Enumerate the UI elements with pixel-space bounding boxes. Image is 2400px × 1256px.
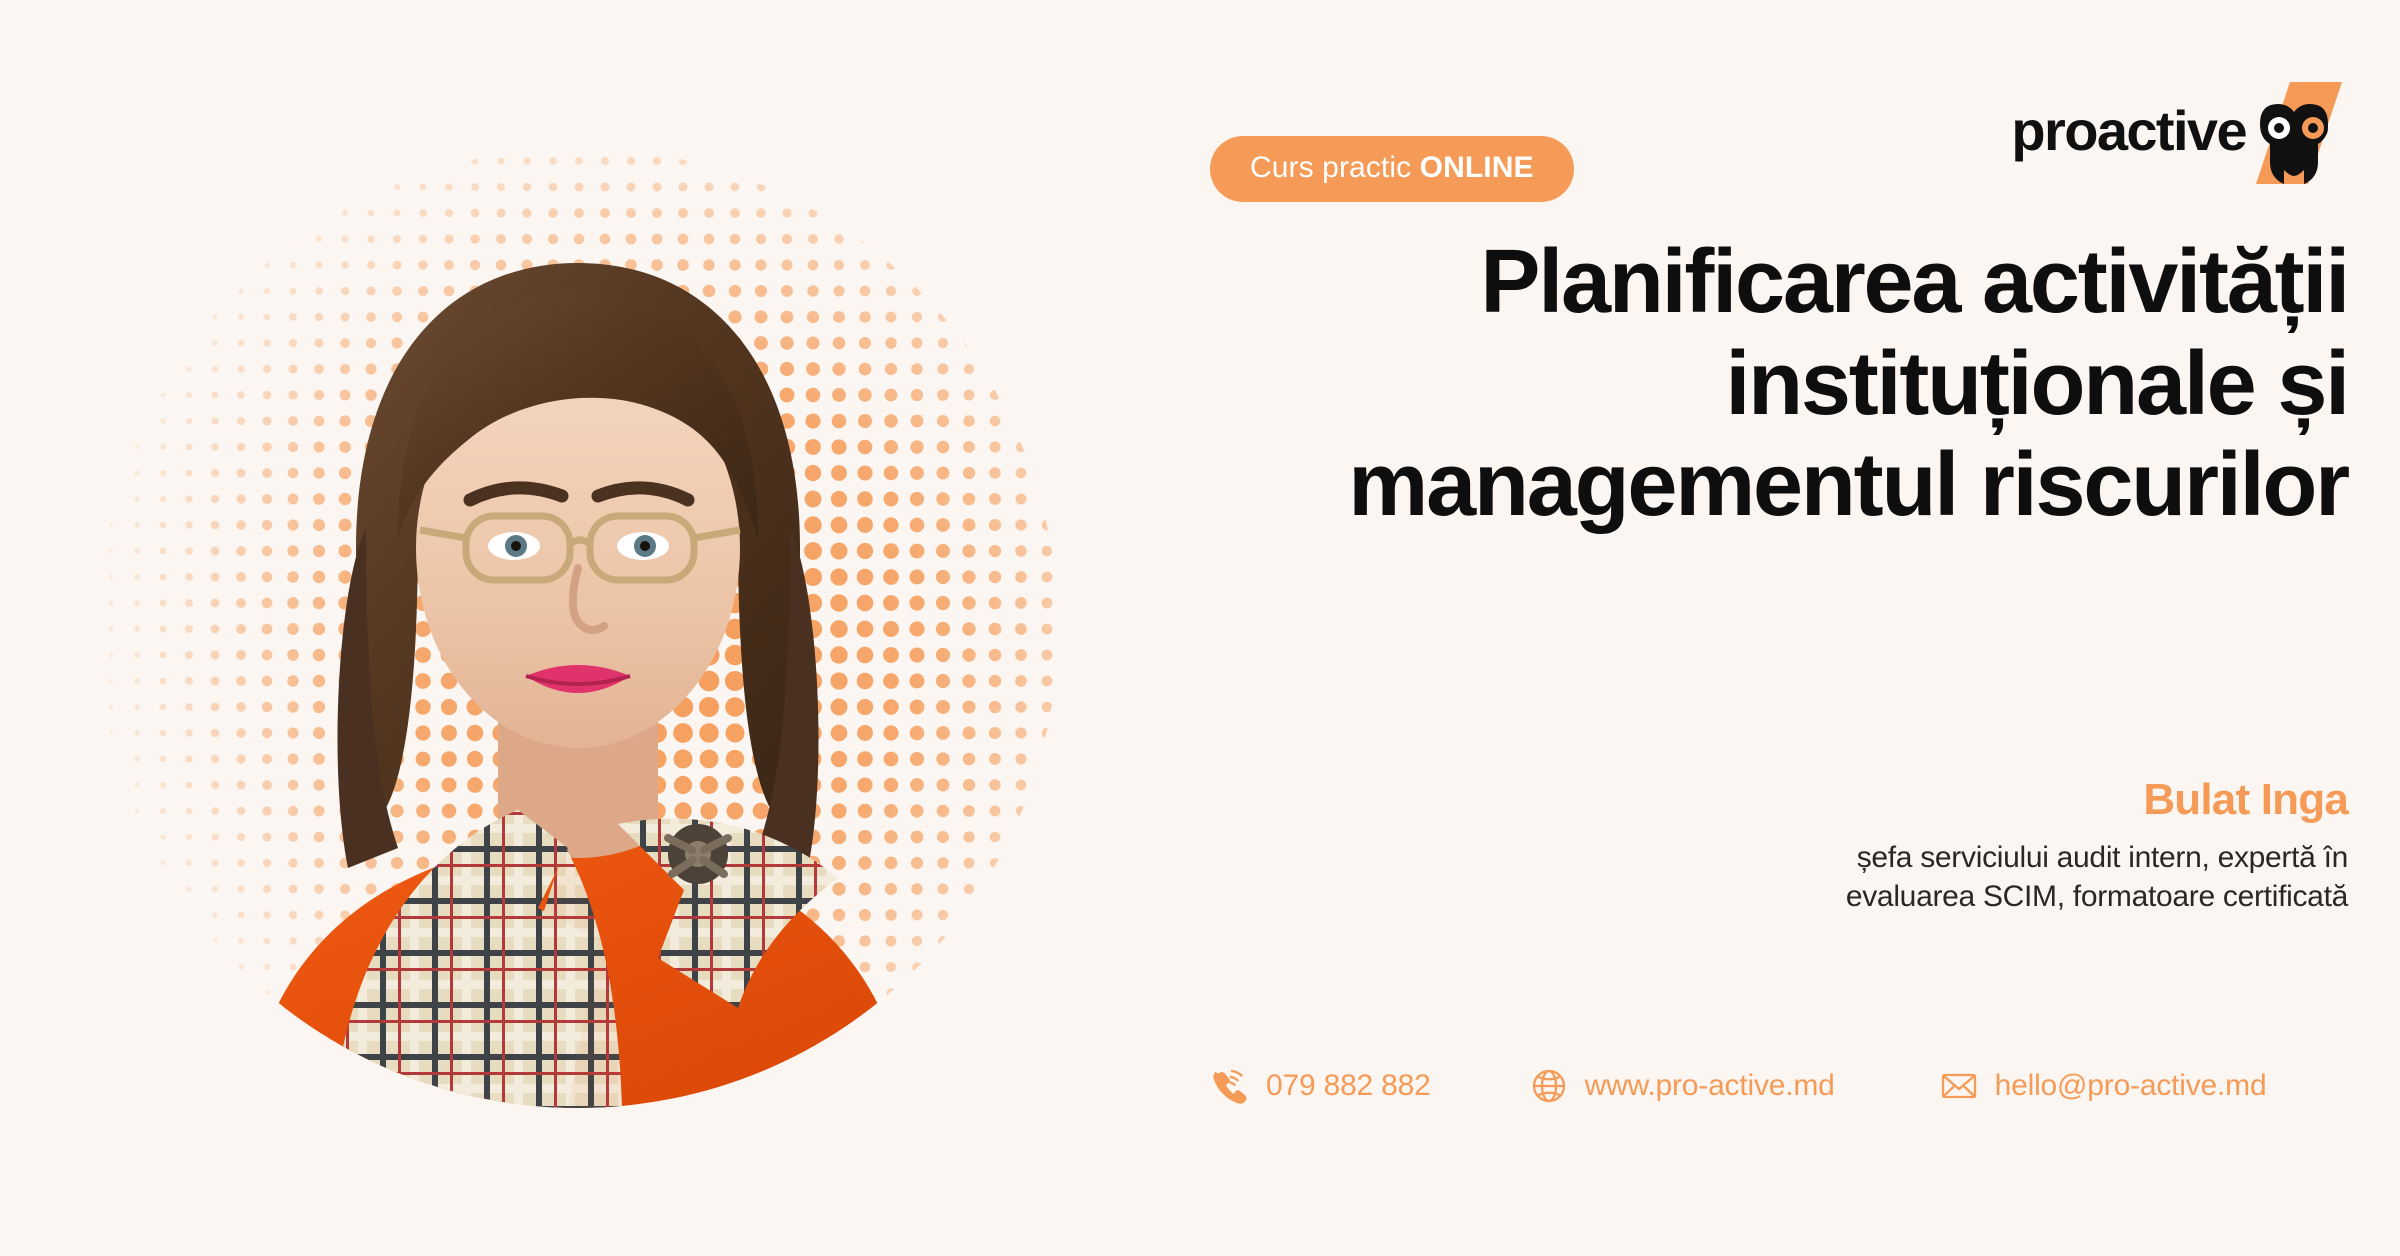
contact-website-value: www.pro-active.md [1585,1069,1835,1103]
speaker-portrait [98,148,1058,1108]
globe-icon [1529,1066,1569,1106]
badge-label-light: Curs practic [1250,151,1420,184]
header-row: Curs practic ONLINE proactive [1085,0,2400,240]
speaker-role: șefa serviciului audit intern, expertă î… [1348,838,2348,917]
speaker-role-line-2: evaluarea SCIM, formatoare certificată [1348,877,2348,917]
page-title: Planificarea activității instituționale … [1108,232,2348,537]
contact-website[interactable]: www.pro-active.md [1529,1066,1835,1106]
badge-label-bold: ONLINE [1420,151,1534,184]
contact-bar: 079 882 882 www.pro-active.md [1120,1066,2380,1106]
contact-phone-value: 079 882 882 [1266,1069,1431,1103]
speaker-block: Bulat Inga șefa serviciului audit intern… [1348,775,2348,917]
headline-line-3: managementul riscurilor [1108,435,2348,537]
envelope-icon [1939,1066,1979,1106]
course-type-badge: Curs practic ONLINE [1210,136,1574,202]
owl-icon [2246,78,2342,188]
promo-banner: Curs practic ONLINE proactive [0,0,2400,1256]
headline-line-1: Planificarea activității [1108,232,2348,334]
speaker-name: Bulat Inga [1348,775,2348,826]
phone-icon [1210,1066,1250,1106]
proactive-logo[interactable]: proactive [2011,78,2342,188]
contact-email-value: hello@pro-active.md [1995,1069,2267,1103]
content-panel: Curs practic ONLINE proactive [1085,0,2400,1256]
speaker-role-line-1: șefa serviciului audit intern, expertă î… [1348,838,2348,878]
headline-line-2: instituționale și [1108,334,2348,436]
contact-phone[interactable]: 079 882 882 [1210,1066,1431,1106]
contact-email[interactable]: hello@pro-active.md [1939,1066,2267,1106]
logo-wordmark: proactive [2011,103,2246,163]
portrait-zone [0,0,1080,1256]
